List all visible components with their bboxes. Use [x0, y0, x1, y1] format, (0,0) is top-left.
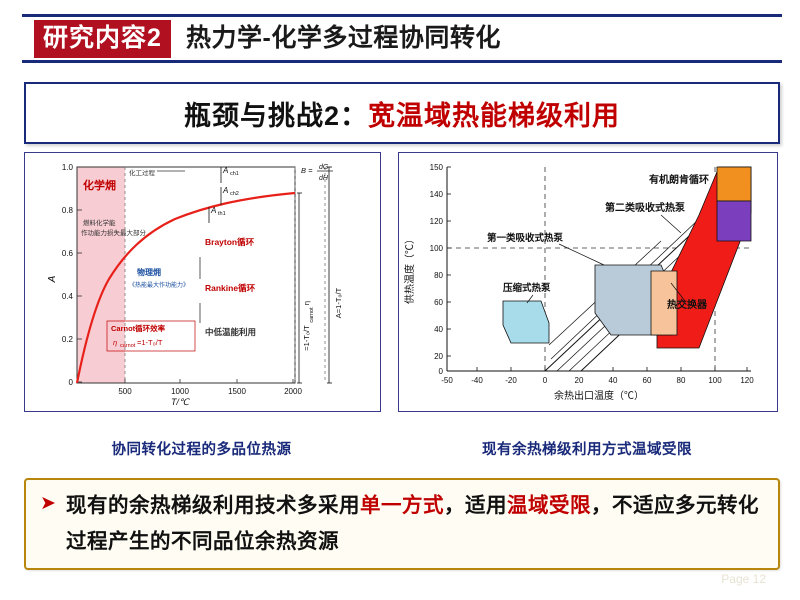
svg-text:-50: -50: [441, 376, 453, 385]
svg-text:压缩式热泵: 压缩式热泵: [503, 282, 551, 294]
svg-text:A=1-T₀/T: A=1-T₀/T: [334, 287, 343, 318]
svg-text:有机朗肯循环: 有机朗肯循环: [649, 173, 709, 186]
subtitle-inner: 瓶颈与挑战2： 宽温域热能梯级利用: [26, 84, 778, 142]
callout-box: ➤ 现有的余热梯级利用技术多采用单一方式，适用温域受限，不适应多元转化过程产生的…: [24, 478, 780, 570]
svg-text:1000: 1000: [171, 387, 189, 396]
svg-text:《热能最大作功能力》: 《热能最大作功能力》: [129, 281, 189, 289]
waste-heat-chart: 150 140 120 100 80 60 40 20 0: [399, 153, 775, 409]
svg-text:η: η: [302, 301, 311, 305]
svg-text:40: 40: [609, 376, 618, 385]
svg-text:A: A: [47, 275, 58, 283]
subtitle-red: 宽温域热能梯级利用: [368, 94, 620, 133]
svg-text:150: 150: [430, 163, 444, 172]
svg-text:60: 60: [434, 298, 443, 307]
subtitle-box: 瓶颈与挑战2： 宽温域热能梯级利用: [24, 82, 780, 144]
svg-text:η: η: [113, 338, 117, 347]
svg-text:80: 80: [434, 271, 443, 280]
svg-text:0.8: 0.8: [62, 206, 74, 215]
subtitle-black: 瓶颈与挑战2：: [184, 94, 368, 133]
svg-text:0: 0: [543, 376, 548, 385]
callout-line1-red2: 温域受: [507, 494, 570, 517]
svg-text:dH: dH: [319, 175, 329, 182]
svg-text:A: A: [222, 166, 228, 175]
page-title: 热力学-化学多过程协同转化: [186, 22, 501, 54]
svg-text:T/℃: T/℃: [171, 397, 190, 407]
svg-text:=1-T₀/T: =1-T₀/T: [137, 338, 163, 347]
slide-header: 研究内容2 热力学-化学多过程协同转化: [0, 14, 800, 62]
bullet-arrow-icon: ➤: [40, 494, 56, 513]
svg-text:燃料化学能: 燃料化学能: [83, 218, 116, 227]
svg-text:th1: th1: [218, 211, 226, 217]
svg-text:Carnot循环效率: Carnot循环效率: [111, 323, 166, 333]
svg-text:80: 80: [677, 376, 686, 385]
svg-text:Brayton循环: Brayton循环: [205, 237, 255, 247]
svg-text:20: 20: [575, 376, 584, 385]
svg-text:ch1: ch1: [230, 171, 239, 177]
svg-text:ch2: ch2: [230, 191, 239, 197]
page-title-tag: 研究内容2: [34, 20, 171, 58]
figure-right: 150 140 120 100 80 60 40 20 0: [398, 152, 778, 412]
svg-text:物理㶲: 物理㶲: [137, 267, 161, 277]
svg-text:2000: 2000: [284, 387, 302, 396]
svg-text:500: 500: [118, 387, 132, 396]
svg-text:余热出口温度（℃）: 余热出口温度（℃）: [554, 389, 644, 402]
caption-left: 协同转化过程的多品位热源: [24, 438, 379, 459]
callout-line1-b: ，适用: [444, 494, 507, 517]
svg-text:20: 20: [434, 352, 443, 361]
svg-text:dG: dG: [319, 164, 329, 171]
header-rule-bottom: [22, 60, 782, 63]
caption-right: 现有余热梯级利用方式温域受限: [398, 438, 776, 459]
svg-text:40: 40: [434, 325, 443, 334]
svg-text:化学㶲: 化学㶲: [83, 178, 116, 192]
exergy-chart: 1.0 0.8 0.6 0.4 0.2 0 500 1000 1500 20: [25, 153, 378, 409]
header-rule-top: [22, 14, 782, 17]
svg-text:第一类吸收式热泵: 第一类吸收式热泵: [487, 232, 564, 244]
svg-text:=1-T₀/T: =1-T₀/T: [302, 325, 311, 351]
svg-text:A: A: [222, 186, 228, 195]
svg-text:carnot: carnot: [120, 343, 136, 349]
svg-text:120: 120: [740, 376, 754, 385]
callout-line1-a: 现有的余热梯级利用技术多采用: [66, 494, 360, 517]
svg-text:120: 120: [430, 217, 444, 226]
svg-text:热交换器: 热交换器: [667, 298, 708, 311]
svg-text:Rankine循环: Rankine循环: [205, 283, 256, 293]
svg-text:作功能力损失最大部分: 作功能力损失最大部分: [81, 228, 147, 237]
svg-text:0.2: 0.2: [62, 335, 74, 344]
svg-text:化工过程: 化工过程: [129, 168, 156, 177]
svg-text:1.0: 1.0: [62, 163, 74, 172]
svg-text:A: A: [210, 206, 216, 215]
svg-text:60: 60: [643, 376, 652, 385]
figure-left: 1.0 0.8 0.6 0.4 0.2 0 500 1000 1500 20: [24, 152, 381, 412]
svg-text:B =: B =: [301, 166, 313, 175]
svg-text:0: 0: [439, 367, 444, 376]
svg-text:140: 140: [430, 190, 444, 199]
svg-text:0.6: 0.6: [62, 249, 74, 258]
svg-text:-40: -40: [471, 376, 483, 385]
svg-text:carnot: carnot: [309, 307, 315, 323]
callout-line1-red: 单一方式: [360, 494, 444, 517]
slide: 研究内容2 热力学-化学多过程协同转化 瓶颈与挑战2： 宽温域热能梯级利用 1.…: [0, 0, 800, 600]
svg-text:0.4: 0.4: [62, 292, 74, 301]
callout-line2-red: 限: [570, 494, 591, 517]
svg-text:第二类吸收式热泵: 第二类吸收式热泵: [605, 201, 686, 214]
svg-text:0: 0: [69, 378, 74, 387]
footer-page: Page 12: [721, 572, 766, 586]
svg-text:1500: 1500: [228, 387, 246, 396]
svg-text:-20: -20: [505, 376, 517, 385]
svg-text:供热温度（℃）: 供热温度（℃）: [403, 234, 416, 304]
svg-text:100: 100: [708, 376, 722, 385]
callout-text: 现有的余热梯级利用技术多采用单一方式，适用温域受限，不适应多元转化过程产生的不同…: [66, 488, 766, 560]
svg-text:中低温能利用: 中低温能利用: [205, 327, 256, 337]
svg-text:100: 100: [430, 244, 444, 253]
